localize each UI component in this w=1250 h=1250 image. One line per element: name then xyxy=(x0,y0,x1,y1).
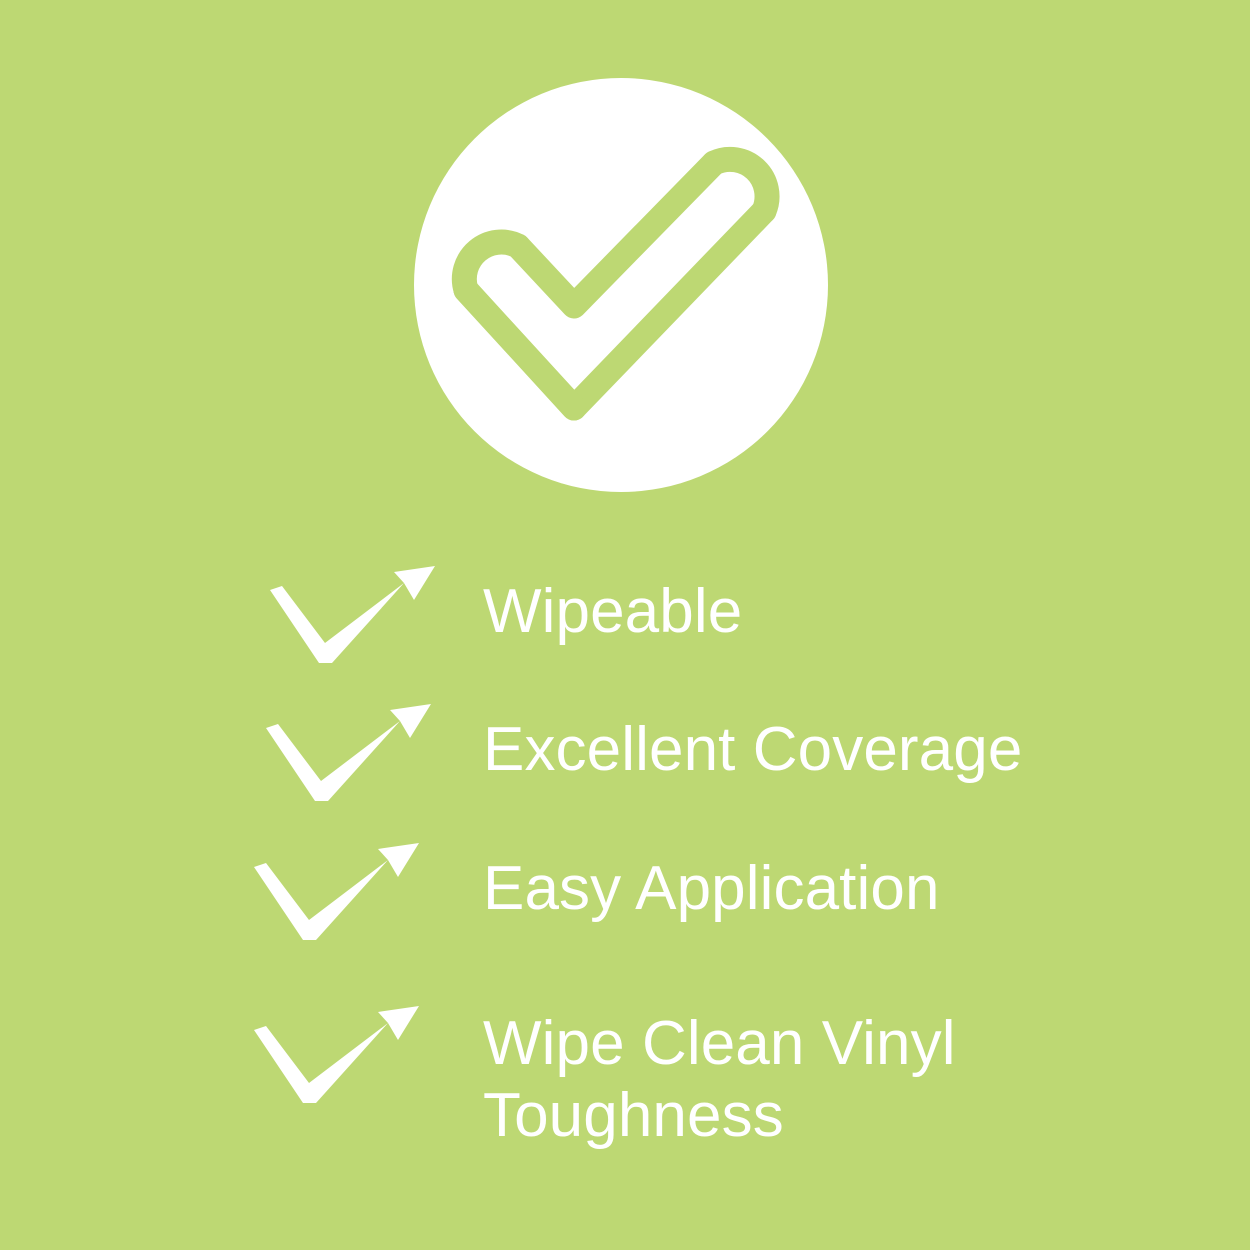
feature-label: Wipe Clean Vinyl Toughness xyxy=(483,1008,956,1152)
check-arrow-shape xyxy=(254,843,419,940)
feature-label: Wipeable xyxy=(483,576,742,648)
hero-check-badge xyxy=(414,78,828,492)
check-arrow-icon xyxy=(264,702,439,806)
check-circle-outline-icon xyxy=(414,78,828,492)
check-arrow-icon xyxy=(252,841,427,945)
feature-label: Excellent Coverage xyxy=(483,714,1022,786)
check-arrow-icon xyxy=(268,564,443,668)
check-arrow-icon xyxy=(252,1004,427,1108)
promo-graphic: Wipeable Excellent Coverage Easy Applica… xyxy=(0,0,1250,1250)
check-arrow-shape xyxy=(270,566,435,663)
check-arrow-shape xyxy=(254,1006,419,1103)
feature-label: Easy Application xyxy=(483,853,940,925)
check-arrow-shape xyxy=(266,704,431,801)
